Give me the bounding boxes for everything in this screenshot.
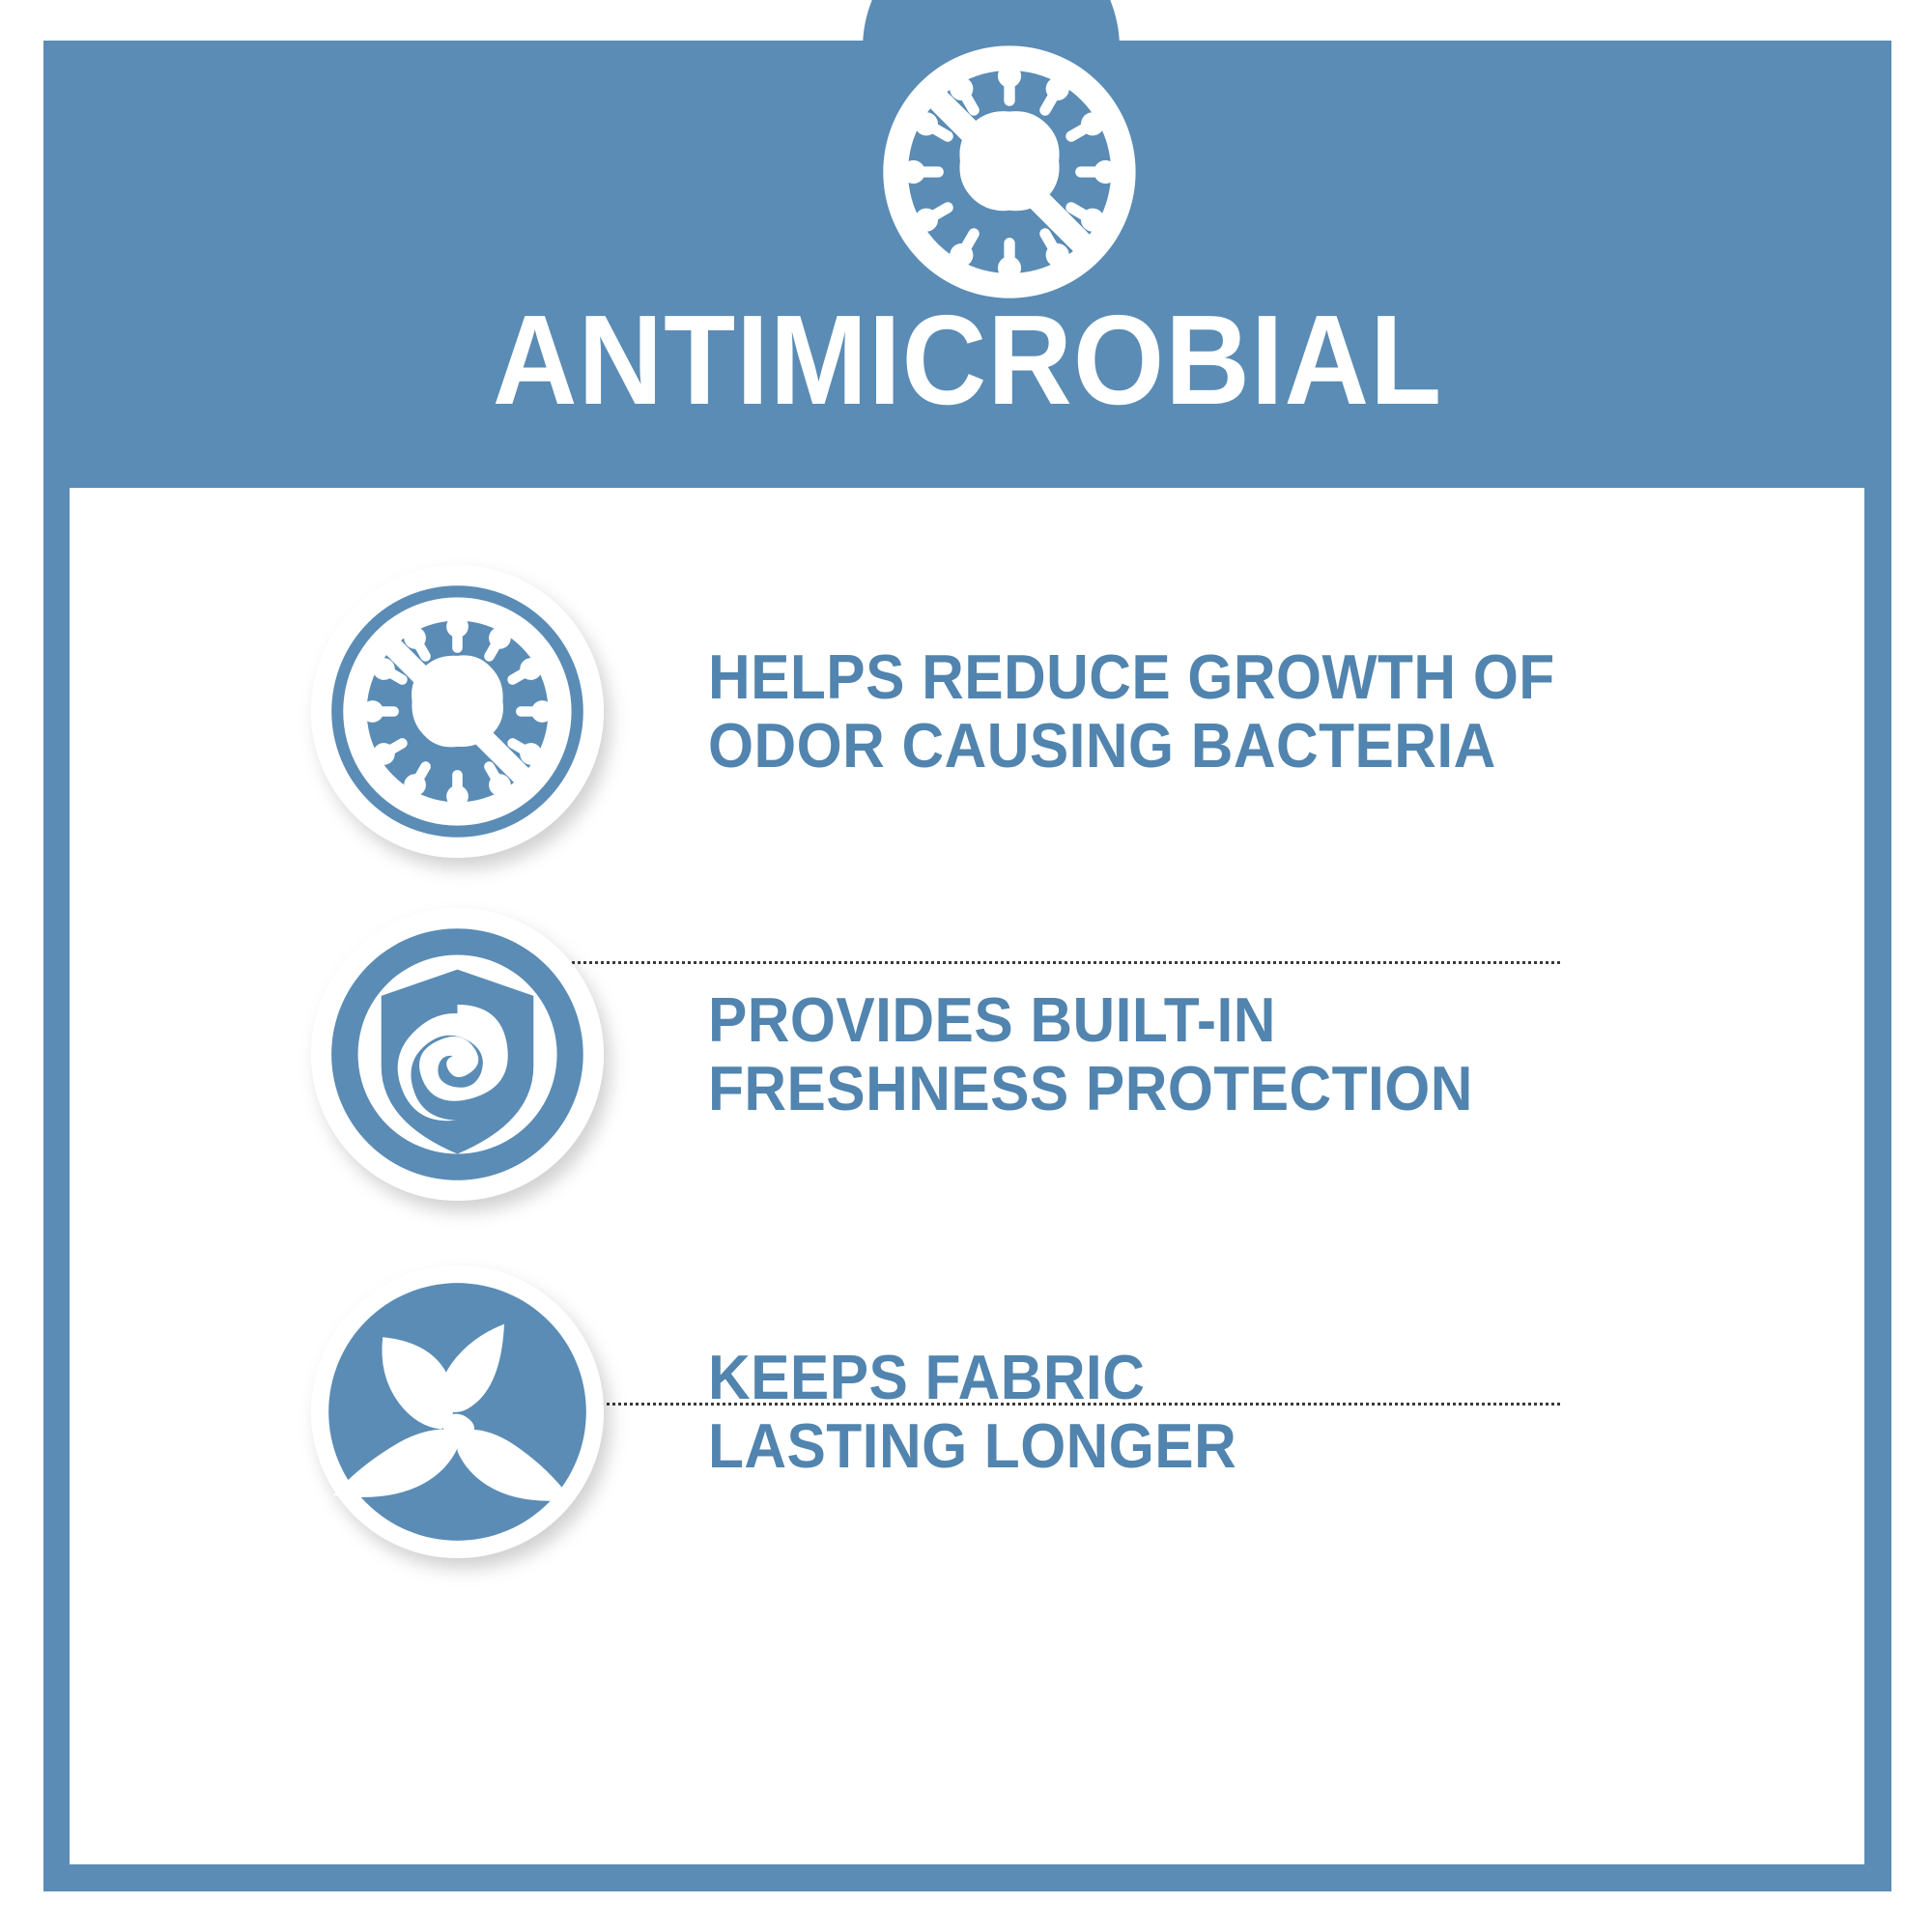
feature-line-2: FRESHNESS PROTECTION	[708, 1055, 1473, 1122]
features-card: HELPS REDUCE GROWTH OF ODOR CAUSING BACT…	[70, 488, 1864, 1864]
blue-frame-panel: ANTIMICROBIAL	[43, 41, 1891, 1891]
feature-line-1: PROVIDES BUILT-IN	[708, 986, 1473, 1054]
feature-line-2: LASTING LONGER	[708, 1412, 1236, 1480]
feature-line-1: KEEPS FABRIC	[708, 1344, 1236, 1411]
feature-row: PROVIDES BUILT-IN FRESHNESS PROTECTION	[311, 908, 1530, 1201]
feature-text: PROVIDES BUILT-IN FRESHNESS PROTECTION	[708, 986, 1473, 1122]
feature-text: KEEPS FABRIC LASTING LONGER	[708, 1344, 1236, 1479]
feature-text: HELPS REDUCE GROWTH OF ODOR CAUSING BACT…	[708, 643, 1555, 779]
feature-row: KEEPS FABRIC LASTING LONGER	[311, 1265, 1276, 1558]
feature-line-2: ODOR CAUSING BACTERIA	[708, 712, 1555, 780]
leaf-sprout-icon	[311, 1265, 604, 1558]
page-title: ANTIMICROBIAL	[118, 297, 1818, 424]
no-bacteria-icon	[311, 565, 604, 858]
antimicrobial-infographic: ANTIMICROBIAL	[0, 0, 1932, 1932]
shield-swirl-icon	[311, 908, 604, 1201]
no-bacteria-icon	[872, 35, 1147, 309]
feature-line-1: HELPS REDUCE GROWTH OF	[708, 643, 1555, 711]
feature-row: HELPS REDUCE GROWTH OF ODOR CAUSING BACT…	[311, 565, 1619, 858]
